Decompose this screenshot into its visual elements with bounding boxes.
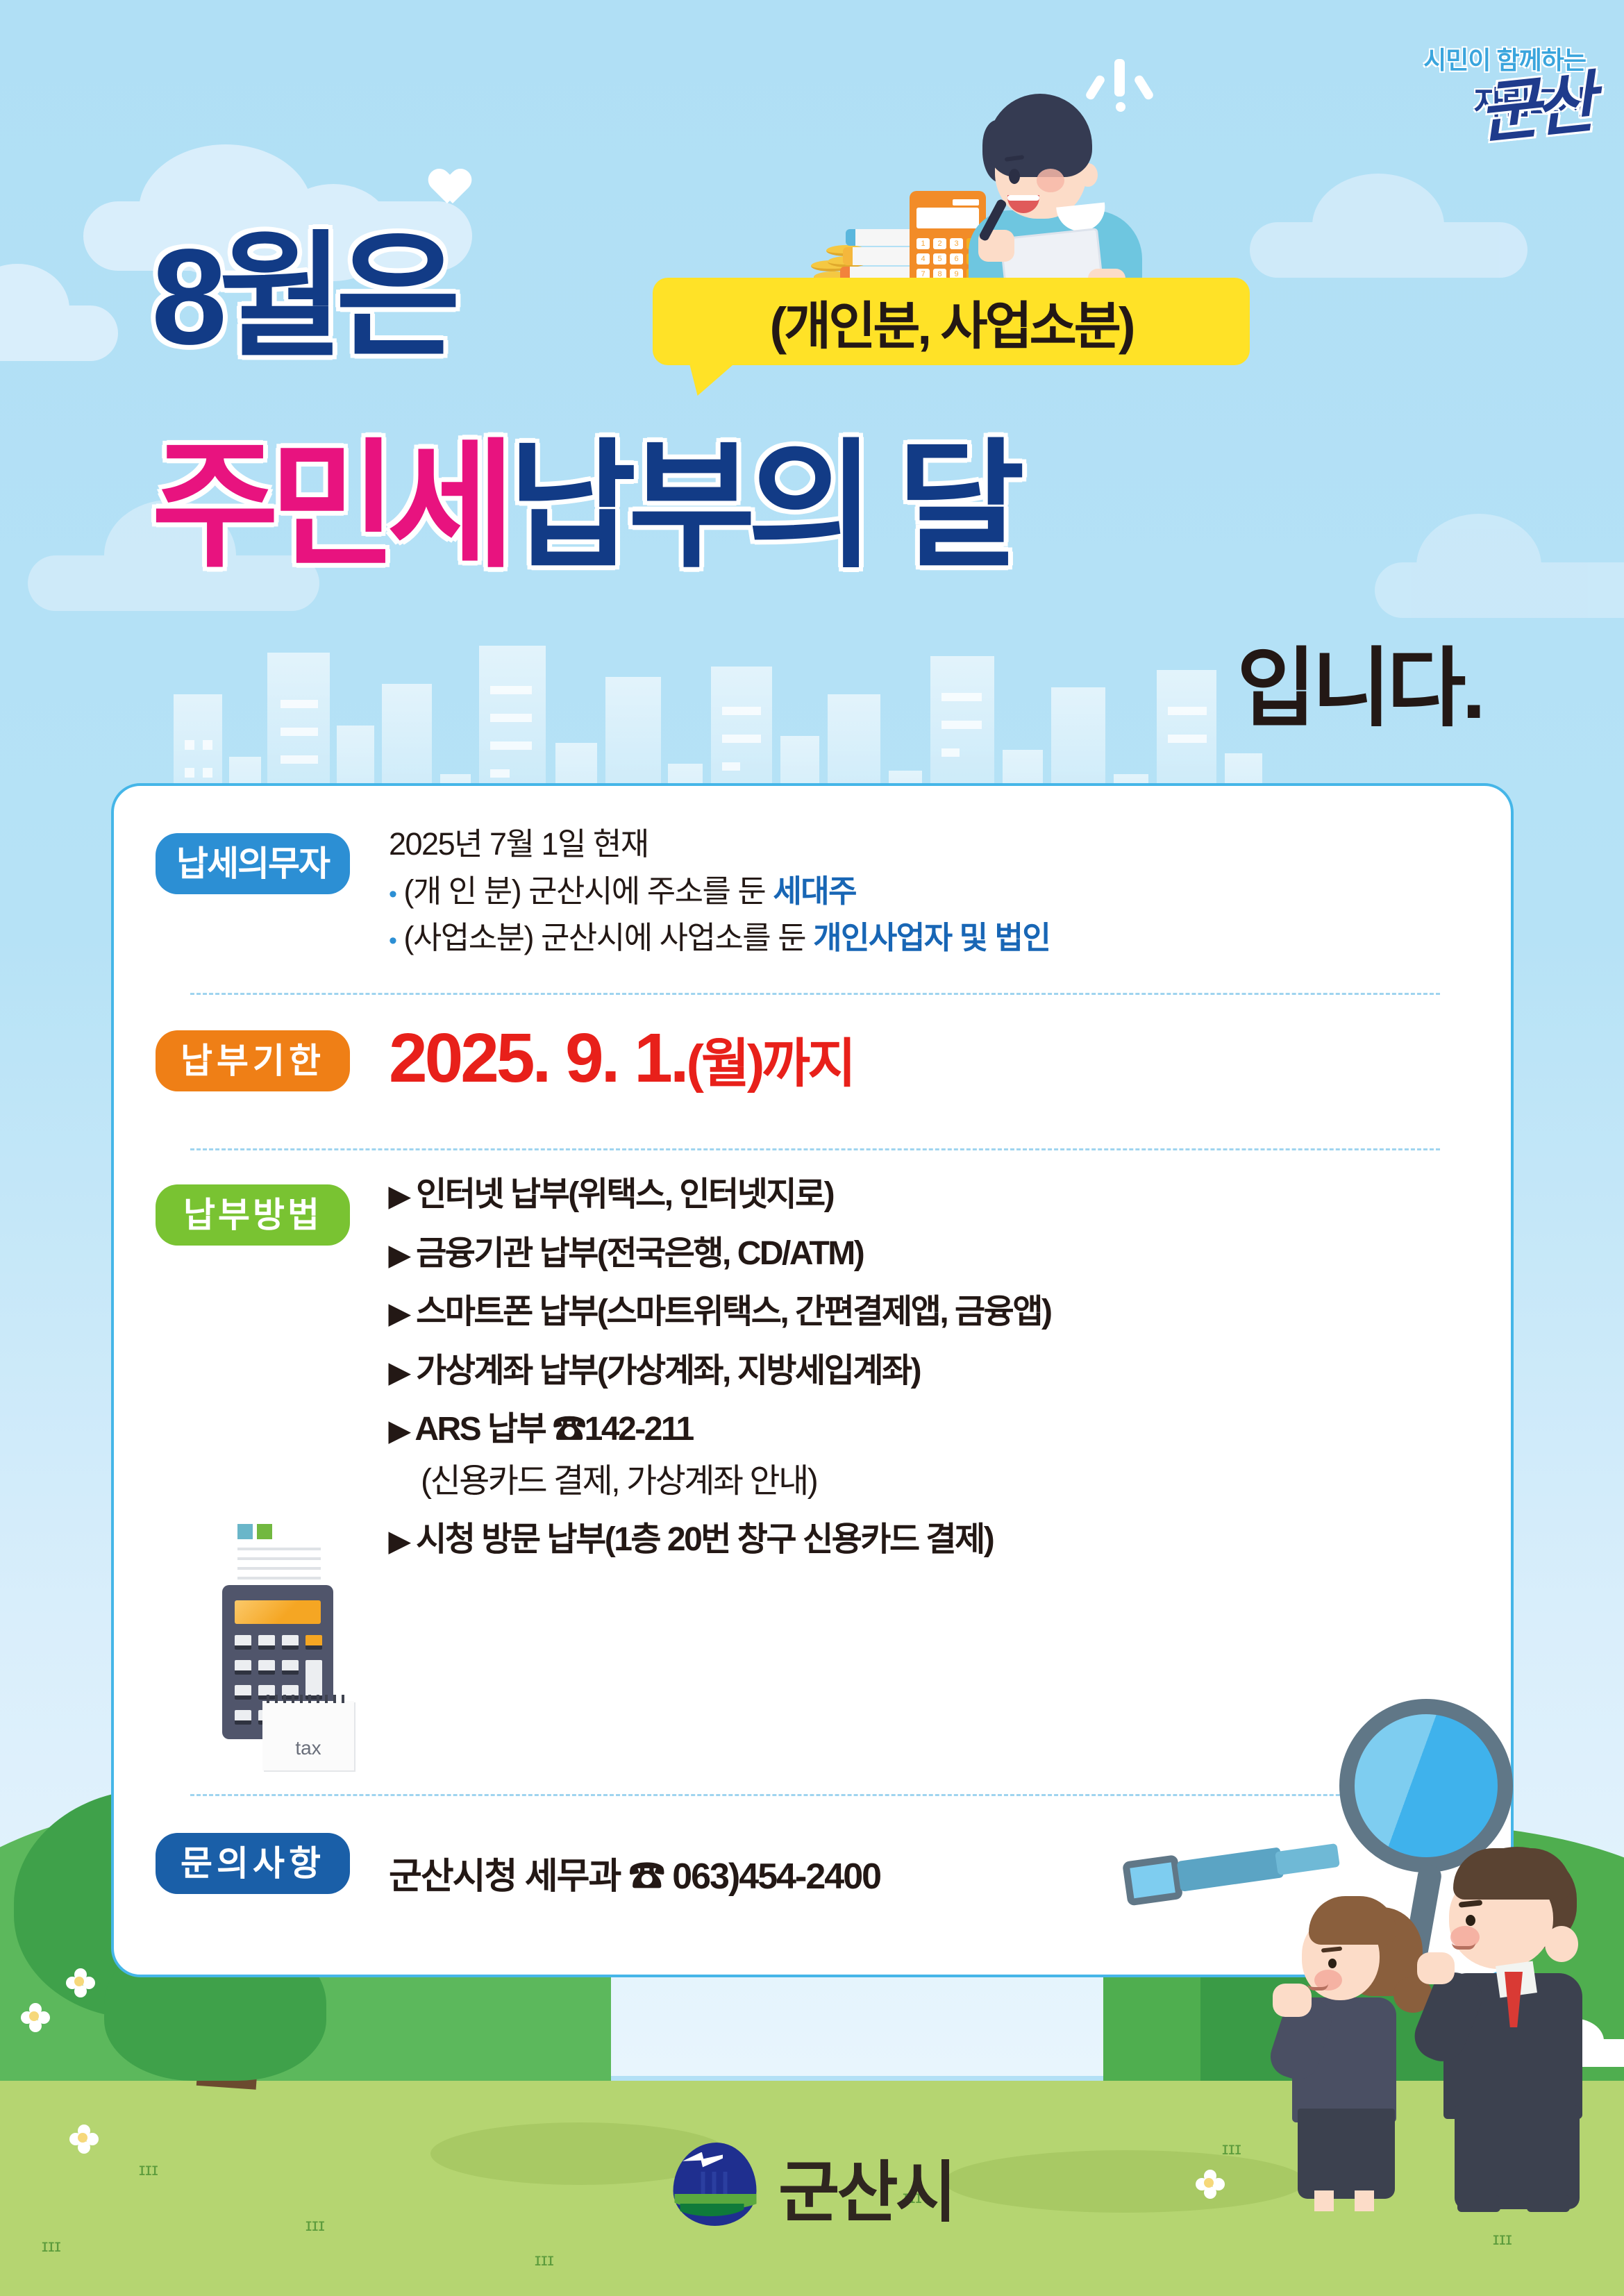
gunsan-city-emblem-icon: [670, 2143, 759, 2231]
method-arrow-icon: ▶: [389, 1240, 408, 1271]
grass-tuft: ɪɪɪ: [42, 2236, 61, 2254]
method-label: 인터넷 납부(위택스, 인터넷지로): [416, 1176, 833, 1213]
method-item: ▶ 인터넷 납부(위택스, 인터넷지로): [389, 1175, 1050, 1216]
method-label: 가상계좌 납부(가상계좌, 지방세입계좌): [416, 1352, 920, 1389]
footer-logo: 군산시: [670, 2138, 954, 2235]
city-brand-logo: 시민이 함께하는 자립도시 군산: [1294, 40, 1586, 131]
taxpayer-line-2: • (사업소분) 군산시에 사업소를 둔 개인사업자 및 법인: [389, 914, 1486, 962]
title-line-2: 주민세 납부의 달: [151, 437, 1016, 576]
title-line-1: 8월은: [151, 229, 453, 365]
title-month: 8월은: [151, 221, 453, 373]
flower-icon: [21, 2003, 50, 2032]
method-item: ▶ 스마트폰 납부(스마트위택스, 간편결제앱, 금융앱): [389, 1292, 1050, 1333]
divider: [190, 993, 1440, 995]
method-label: 스마트폰 납부(스마트위택스, 간편결제앱, 금융앱): [416, 1293, 1050, 1330]
cloud-left-edge: [0, 264, 118, 361]
taxpayer-lines: 2025년 7월 1일 현재 • (개 인 분) 군산시에 주소를 둔 세대주 …: [389, 821, 1486, 962]
taxpayer-line-2-prefix: (사업소분) 군산시에 사업소를 둔: [403, 920, 813, 955]
method-item: ▶ 시청 방문 납부(1층 20번 창구 신용카드 결제): [389, 1520, 1050, 1561]
chip-inquiry: 문의사항: [156, 1833, 350, 1894]
grass-tuft: ɪɪɪ: [139, 2160, 158, 2178]
flower-icon: [69, 2125, 99, 2154]
document-icon: [237, 1524, 328, 1578]
method-item: ▶ 가상계좌 납부(가상계좌, 지방세입계좌): [389, 1351, 1050, 1392]
title-tax-name: 주민세: [151, 429, 505, 584]
taxpayer-line-1-prefix: (개 인 분) 군산시에 주소를 둔: [403, 873, 773, 909]
method-label: ARS 납부 ☎142-211: [415, 1411, 692, 1448]
title-payment-month: 납부의 달: [508, 429, 1016, 584]
title-scope-badge: (개인분, 사업소분): [653, 278, 1250, 365]
tax-note-label: tax: [262, 1737, 354, 1759]
method-item: ▶ ARS 납부 ☎142-211: [389, 1409, 1050, 1450]
woman-figure: [1277, 1879, 1437, 2206]
grass-tuft: ɪɪɪ: [535, 2250, 554, 2268]
bullet-icon: •: [389, 928, 396, 954]
calculator-illustration: tax: [201, 1524, 358, 1774]
spiral-binding: [267, 1695, 350, 1703]
deadline-date: 2025. 9. 1.: [389, 1019, 687, 1097]
city-logo-brand: 군산: [1474, 49, 1595, 156]
divider: [190, 1148, 1440, 1150]
tax-notepad: tax: [262, 1701, 354, 1770]
man-figure: [1423, 1834, 1624, 2209]
duo-illustration: [1207, 1685, 1624, 2213]
cloud-right-mid: [1375, 514, 1624, 618]
bullet-icon: •: [389, 881, 396, 907]
method-arrow-icon: ▶: [389, 1526, 408, 1557]
grass-tuft: ɪɪɪ: [305, 2215, 325, 2234]
deadline-suffix: (월)까지: [687, 1034, 853, 1093]
method-arrow-icon: ▶: [389, 1298, 408, 1329]
hero-illustration: 1 2 3 x 4 5 6 ÷ 7 8 9 - 0 . = +: [819, 21, 1146, 312]
chip-methods: 납부방법: [156, 1184, 350, 1246]
chip-deadline: 납부기한: [156, 1030, 350, 1091]
method-arrow-icon: ▶: [389, 1181, 408, 1212]
title-scope-badge-label: (개인분, 사업소분): [653, 278, 1250, 365]
method-item: ▶ 금융기관 납부(전국은행, CD/ATM): [389, 1234, 1050, 1275]
taxpayer-line-1-highlight: 세대주: [773, 873, 856, 909]
cloud-right-top: [1250, 174, 1527, 278]
method-arrow-icon: ▶: [389, 1357, 408, 1388]
footer-logo-label: 군산시: [778, 2138, 954, 2235]
title-line-3: 입니다.: [1237, 646, 1482, 732]
chip-taxpayer: 납세의무자: [156, 833, 350, 894]
deadline-value: 2025. 9. 1.(월)까지: [389, 1023, 853, 1093]
calculator-display: [235, 1600, 321, 1624]
inquiry-contact: 군산시청 세무과 ☎ 063)454-2400: [389, 1847, 880, 1899]
heart-decoration: [430, 170, 469, 206]
taxpayer-line-0: 2025년 7월 1일 현재: [389, 821, 1486, 868]
method-arrow-icon: ▶: [389, 1416, 408, 1446]
taxpayer-line-2-highlight: 개인사업자 및 법인: [813, 920, 1050, 955]
grass-tuft: ɪɪɪ: [1493, 2229, 1512, 2247]
method-label: 금융기관 납부(전국은행, CD/ATM): [416, 1235, 863, 1272]
method-subtext: (신용카드 결제, 가상계좌 안내): [421, 1453, 1050, 1502]
flower-icon: [66, 1968, 95, 1997]
taxpayer-line-1: • (개 인 분) 군산시에 주소를 둔 세대주: [389, 868, 1486, 915]
poster-root: ɪɪɪ ɪɪɪ ɪɪɪ ɪɪɪ ɪɪɪ ɪɪɪ ɪɪɪ 시민이 함께하는 자립도…: [0, 0, 1624, 2296]
method-label: 시청 방문 납부(1층 20번 창구 신용카드 결제): [416, 1521, 993, 1558]
